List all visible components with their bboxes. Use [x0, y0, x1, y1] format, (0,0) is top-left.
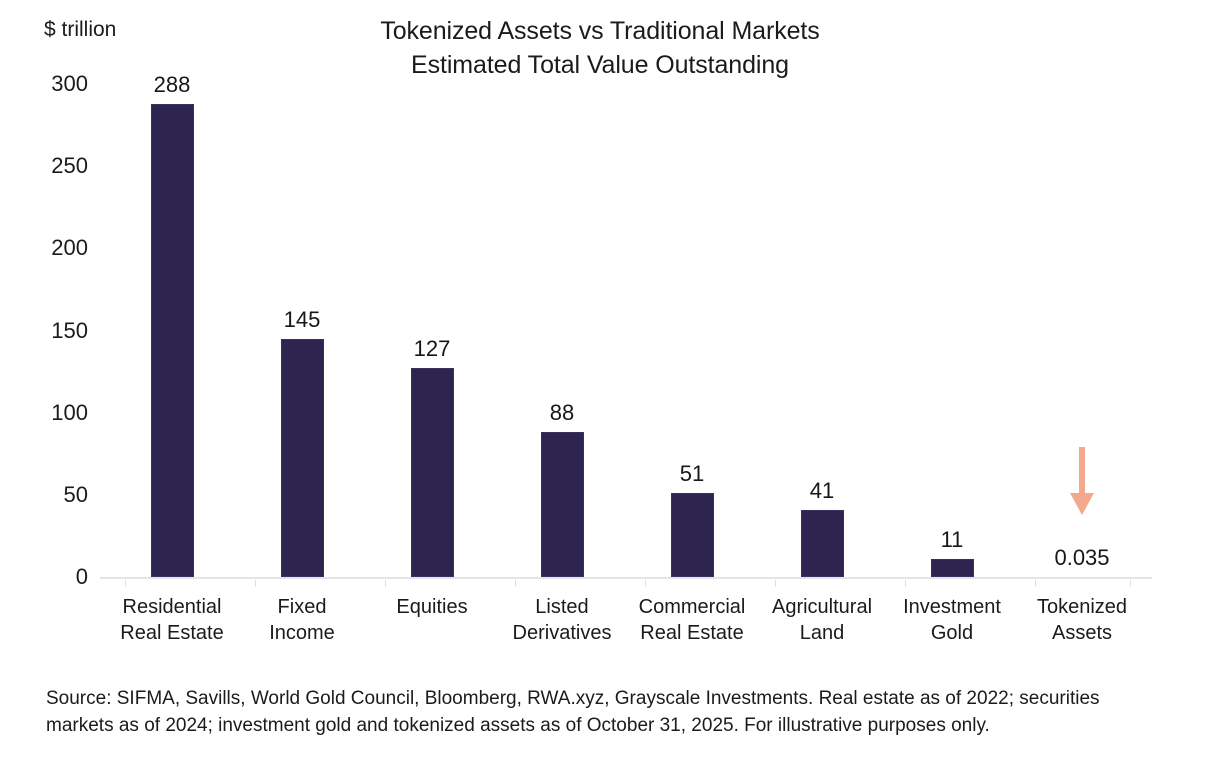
x-axis-baseline — [100, 577, 1152, 579]
x-axis-category-label-line-1: Listed — [535, 596, 588, 618]
x-axis-tick-mark — [1035, 580, 1036, 587]
bar-value-label: 145 — [284, 307, 321, 333]
x-axis-category-label: ResidentialReal Estate — [120, 594, 223, 646]
y-axis-tick-label: 50 — [64, 482, 88, 508]
x-axis-tick-mark — [775, 580, 776, 587]
x-axis-category-label-line-1: Investment — [903, 596, 1001, 618]
x-axis-category-label: InvestmentGold — [903, 594, 1001, 646]
bar-chart: $ trillion Tokenized Assets vs Tradition… — [0, 0, 1229, 770]
bar[interactable] — [151, 104, 194, 577]
x-axis-category-label: CommercialReal Estate — [639, 594, 746, 646]
x-axis-tick-mark — [1130, 580, 1131, 587]
bar-value-label: 288 — [154, 72, 191, 98]
y-axis-tick-label: 0 — [76, 564, 88, 590]
x-axis-category-label-line-2: Derivatives — [513, 620, 612, 646]
bar[interactable] — [281, 339, 324, 577]
x-axis-category-label: TokenizedAssets — [1037, 594, 1127, 646]
x-axis-category-label-line-2: Gold — [903, 620, 1001, 646]
x-axis-category-label-line-2: Land — [772, 620, 872, 646]
y-axis: 300250200150100500 — [0, 60, 96, 578]
x-axis-tick-mark — [905, 580, 906, 587]
y-axis-tick-label: 100 — [51, 400, 88, 426]
x-axis-category-label-line-1: Commercial — [639, 596, 746, 618]
source-note: Source: SIFMA, Savills, World Gold Counc… — [46, 686, 1131, 739]
y-axis-tick-label: 250 — [51, 153, 88, 179]
x-axis-tick-mark — [645, 580, 646, 587]
bar[interactable] — [931, 559, 974, 577]
bar[interactable] — [541, 432, 584, 577]
bar[interactable] — [671, 493, 714, 577]
x-axis-category-label-line-1: Tokenized — [1037, 596, 1127, 618]
x-axis-category-label-line-2: Income — [269, 620, 335, 646]
y-axis-tick-label: 300 — [51, 71, 88, 97]
bar-value-label: 88 — [550, 400, 574, 426]
x-axis-category-label-line-1: Agricultural — [772, 596, 872, 618]
x-axis-tick-mark — [255, 580, 256, 587]
x-axis-category-label-line-1: Residential — [123, 596, 222, 618]
x-axis-tick-mark — [515, 580, 516, 587]
chart-title: Tokenized Assets vs Traditional Markets … — [300, 14, 900, 82]
y-axis-tick-label: 150 — [51, 318, 88, 344]
bar-value-label: 41 — [810, 478, 834, 504]
y-axis-unit-label: $ trillion — [44, 18, 116, 42]
x-axis-tick-mark — [125, 580, 126, 587]
x-axis-category-label: FixedIncome — [269, 594, 335, 646]
x-axis-category-label-line-2: Real Estate — [120, 620, 223, 646]
x-axis-tick-mark — [385, 580, 386, 587]
bar[interactable] — [411, 368, 454, 577]
bar-value-label: 11 — [941, 527, 964, 553]
x-axis-category-label-line-2: Real Estate — [639, 620, 746, 646]
bar-value-label: 0.035 — [1054, 545, 1109, 571]
bar[interactable] — [801, 510, 844, 577]
x-axis-category-label-line-1: Equities — [396, 596, 467, 618]
chart-title-line-1: Tokenized Assets vs Traditional Markets — [300, 14, 900, 48]
y-axis-tick-label: 200 — [51, 235, 88, 261]
x-axis-category-label-line-1: Fixed — [278, 596, 327, 618]
bar-value-label: 127 — [414, 336, 451, 362]
down-arrow-icon — [1066, 447, 1098, 524]
x-axis-category-label: AgriculturalLand — [772, 594, 872, 646]
bar-value-label: 51 — [680, 461, 704, 487]
x-axis-category-label-line-2: Assets — [1037, 620, 1127, 646]
x-axis-category-label: ListedDerivatives — [513, 594, 612, 646]
chart-title-line-2: Estimated Total Value Outstanding — [300, 48, 900, 82]
x-axis-category-label: Equities — [396, 594, 467, 620]
